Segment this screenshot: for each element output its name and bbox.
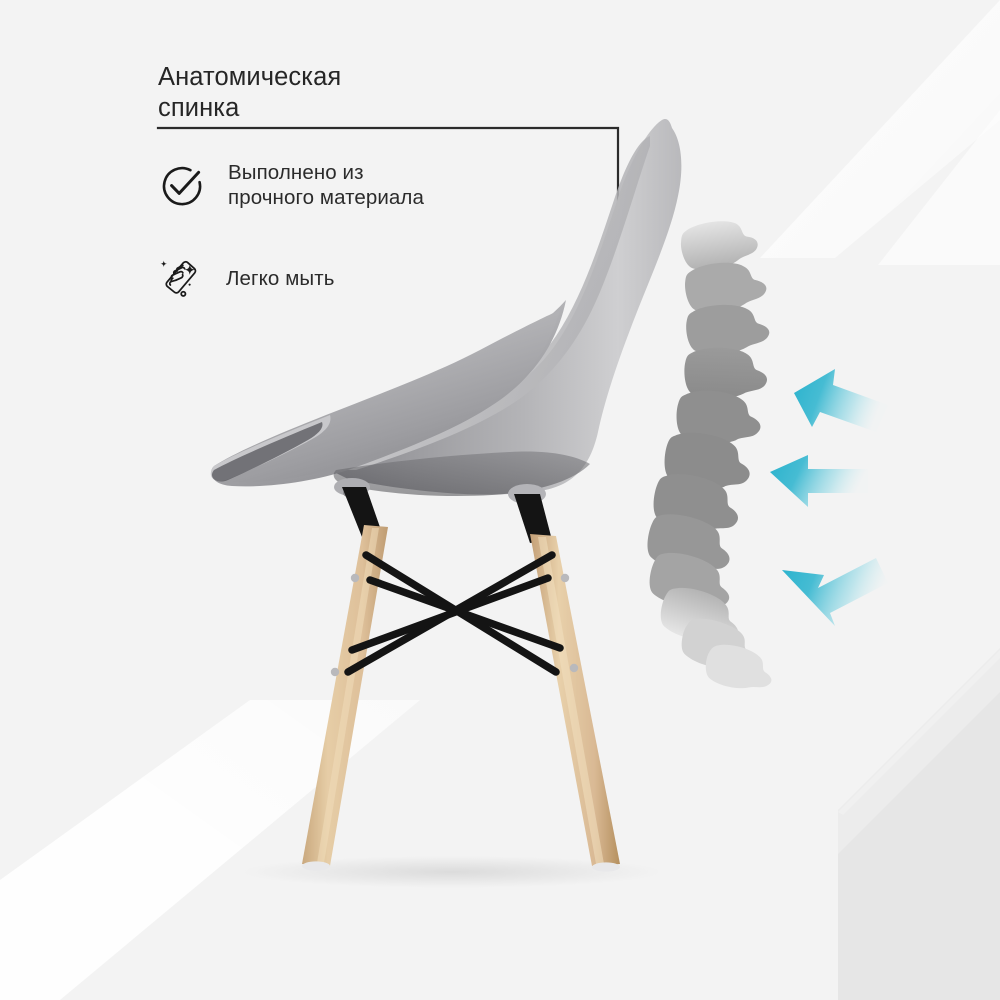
pressure-arrow-3	[782, 558, 888, 626]
pressure-arrow-1	[794, 369, 888, 432]
pressure-arrows	[770, 369, 888, 626]
vertebra-3	[685, 303, 770, 355]
vertebra-stack	[642, 216, 778, 698]
infographic-canvas: Анатомическая спинка Выполнено из прочно…	[0, 0, 1000, 1000]
spine-illustration	[0, 0, 1000, 1000]
pressure-arrow-2	[770, 455, 868, 507]
